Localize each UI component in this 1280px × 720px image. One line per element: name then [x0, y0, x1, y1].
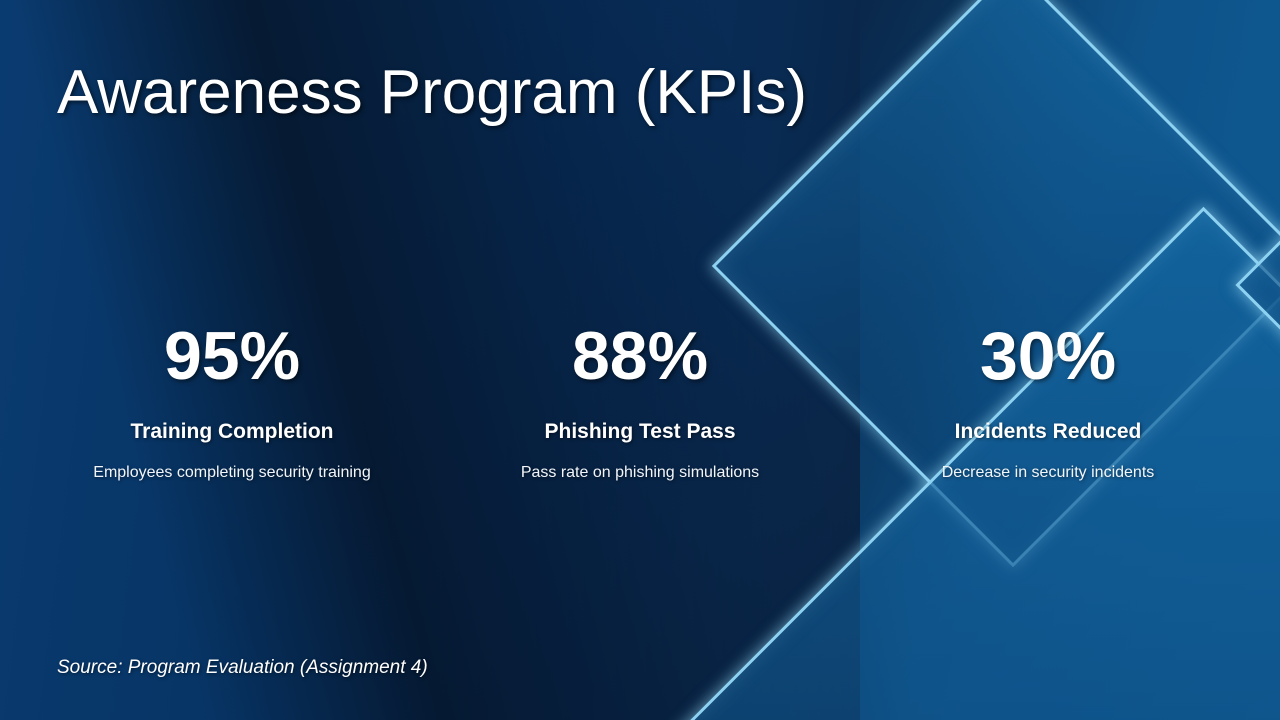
- kpi-description: Decrease in security incidents: [850, 464, 1246, 482]
- kpi-card-incidents-reduced: 30% Incidents Reduced Decrease in securi…: [844, 322, 1252, 482]
- slide-content: Awareness Program (KPIs) 95% Training Co…: [0, 0, 1280, 720]
- kpi-label: Incidents Reduced: [850, 420, 1246, 444]
- kpi-value: 95%: [34, 322, 430, 390]
- page-title: Awareness Program (KPIs): [57, 57, 807, 128]
- kpi-card-phishing-test-pass: 88% Phishing Test Pass Pass rate on phis…: [436, 322, 844, 482]
- kpi-card-training-completion: 95% Training Completion Employees comple…: [28, 322, 436, 482]
- kpi-row: 95% Training Completion Employees comple…: [28, 322, 1252, 482]
- kpi-label: Phishing Test Pass: [442, 420, 838, 444]
- source-note: Source: Program Evaluation (Assignment 4…: [57, 657, 428, 679]
- kpi-label: Training Completion: [34, 420, 430, 444]
- kpi-value: 88%: [442, 322, 838, 390]
- kpi-description: Employees completing security training: [34, 464, 430, 482]
- slide-canvas: Awareness Program (KPIs) 95% Training Co…: [0, 0, 1280, 720]
- kpi-description: Pass rate on phishing simulations: [442, 464, 838, 482]
- kpi-value: 30%: [850, 322, 1246, 390]
